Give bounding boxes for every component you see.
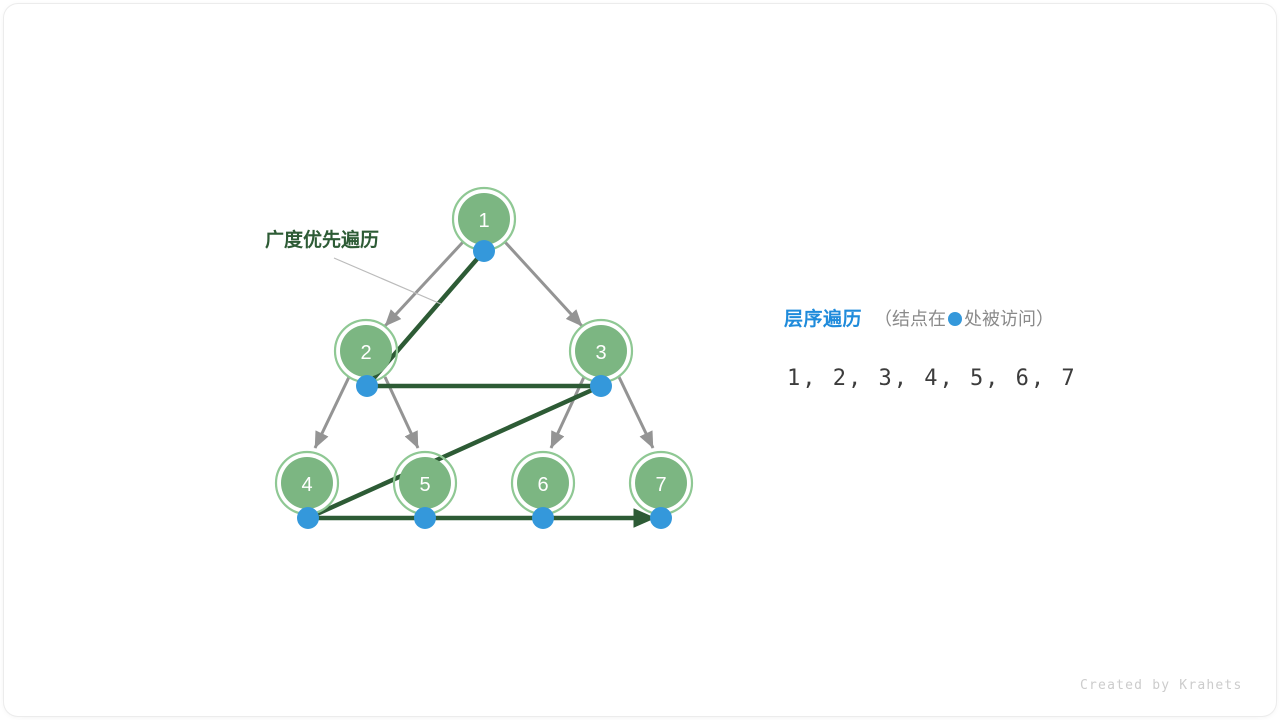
edge-3-7 bbox=[619, 377, 653, 448]
legend-panel: 层序遍历（结点在处被访问） bbox=[784, 304, 1204, 331]
footer-credit: Created by Krahets bbox=[1080, 678, 1242, 693]
visit-dot-node-3[interactable] bbox=[590, 375, 612, 397]
bfs-annotation: 广度优先遍历 bbox=[265, 228, 441, 304]
node-value: 1 bbox=[478, 210, 489, 232]
tree-node-7[interactable]: 7 bbox=[630, 452, 692, 514]
tree-node-2[interactable]: 2 bbox=[335, 320, 397, 382]
slide-card: 1 2 3 4 bbox=[4, 4, 1276, 716]
tree-diagram-svg: 1 2 3 4 bbox=[4, 4, 1276, 716]
edge-1-2 bbox=[385, 242, 463, 326]
tree-node-5[interactable]: 5 bbox=[394, 452, 456, 514]
node-value: 3 bbox=[595, 342, 606, 364]
traversal-sequence: 1, 2, 3, 4, 5, 6, 7 bbox=[787, 366, 1077, 391]
legend-title: 层序遍历 bbox=[784, 304, 862, 331]
tree-node-3[interactable]: 3 bbox=[570, 320, 632, 382]
visit-dot-node-1[interactable] bbox=[473, 240, 495, 262]
visit-dot-node-6[interactable] bbox=[532, 507, 554, 529]
bfs-label-text: 广度优先遍历 bbox=[265, 228, 379, 251]
visit-dot-icon bbox=[948, 312, 962, 326]
edge-1-3 bbox=[505, 242, 582, 326]
tree-node-6[interactable]: 6 bbox=[512, 452, 574, 514]
visit-dot-node-7[interactable] bbox=[650, 507, 672, 529]
node-value: 7 bbox=[655, 474, 666, 496]
visit-dot-node-4[interactable] bbox=[297, 507, 319, 529]
node-value: 6 bbox=[537, 474, 548, 496]
visit-dot-node-5[interactable] bbox=[414, 507, 436, 529]
edge-2-4 bbox=[315, 377, 349, 448]
diagram-root: 1 2 3 4 bbox=[0, 0, 1280, 720]
node-value: 4 bbox=[301, 474, 312, 496]
legend-note-before: （结点在 bbox=[874, 309, 946, 329]
legend-note-after: 处被访问） bbox=[964, 309, 1054, 329]
visit-dot-node-2[interactable] bbox=[356, 375, 378, 397]
tree-node-4[interactable]: 4 bbox=[276, 452, 338, 514]
node-value: 2 bbox=[360, 342, 371, 364]
legend-note: （结点在处被访问） bbox=[874, 305, 1054, 331]
node-value: 5 bbox=[419, 474, 430, 496]
